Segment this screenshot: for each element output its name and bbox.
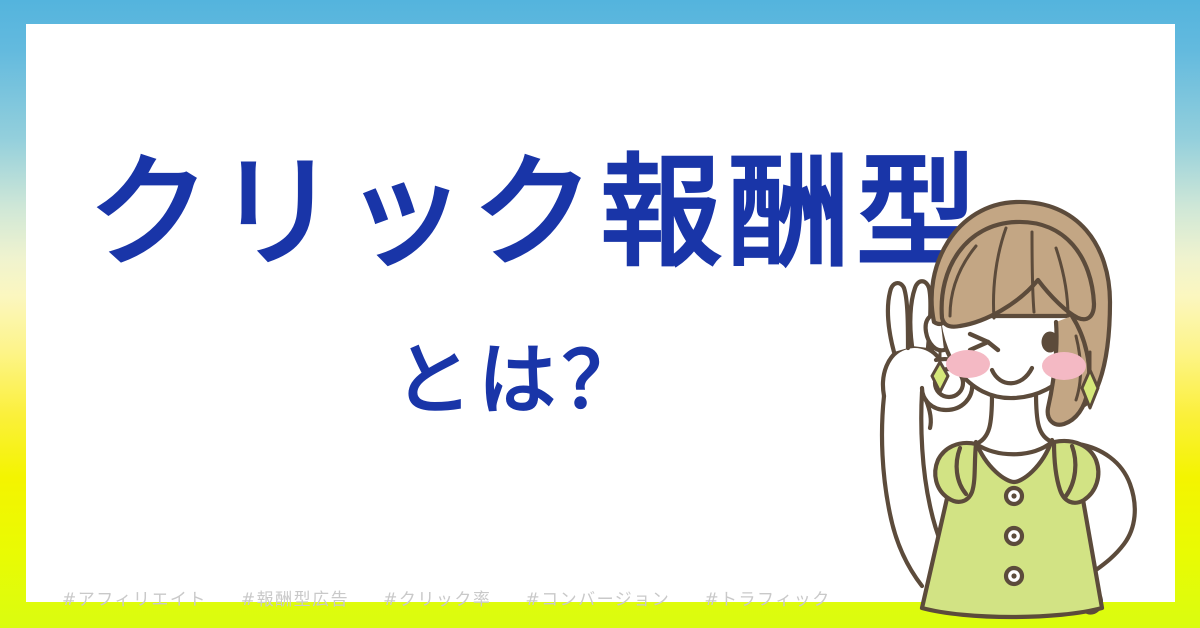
hashtag-item-conversion[interactable]: #コンバージョン bbox=[525, 585, 670, 610]
page-title-sub: とは？ bbox=[394, 342, 646, 420]
page-title-main: クリック報酬型 bbox=[88, 152, 988, 274]
hashtag-item-reward-ad[interactable]: #報酬型広告 bbox=[241, 585, 349, 610]
hashtag-item-traffic[interactable]: #トラフィック bbox=[704, 585, 830, 610]
hashtag-item-affiliate[interactable]: #アフィリエイト bbox=[62, 585, 207, 610]
white-card: クリック報酬型 とは？ #アフィリエイト #報酬型広告 #クリック率 #コンバー… bbox=[26, 24, 1175, 602]
banner-canvas: クリック報酬型 とは？ #アフィリエイト #報酬型広告 #クリック率 #コンバー… bbox=[0, 0, 1200, 628]
hashtag-list: #アフィリエイト #報酬型広告 #クリック率 #コンバージョン #トラフィック bbox=[62, 585, 831, 610]
hashtag-item-click-rate[interactable]: #クリック率 bbox=[383, 585, 491, 610]
